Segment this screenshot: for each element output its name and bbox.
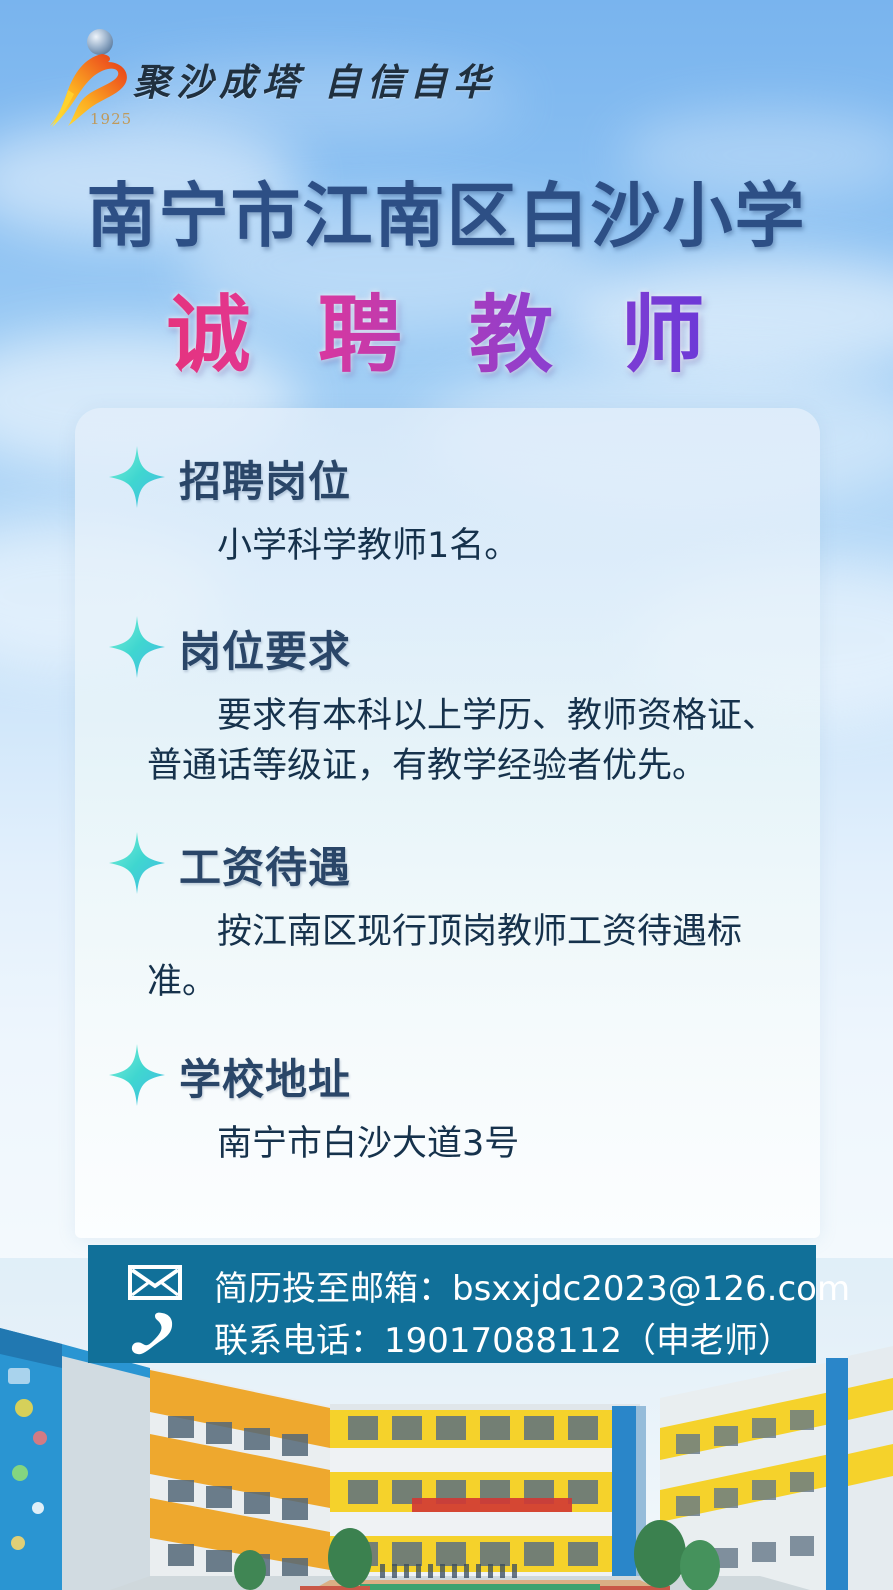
content-card: 招聘岗位 小学科学教师1名。 岗位要求 要求有本科以上学历、教师资格证、普通话等… [75,408,820,1238]
envelope-icon [128,1259,182,1305]
sparkle-icon [109,832,165,894]
section-title: 招聘岗位 [179,448,351,509]
svg-text:1925: 1925 [90,110,132,128]
section-body: 按江南区现行顶岗教师工资待遇标准。 [147,908,795,1007]
section-header: 岗位要求 [75,620,820,678]
section-requirements: 岗位要求 要求有本科以上学历、教师资格证、普通话等级证，有教学经验者优先。 [75,620,820,678]
section-body: 南宁市白沙大道3号 [147,1120,795,1170]
contact-phone-row[interactable]: 联系电话：19017088112（申老师） [88,1311,816,1363]
section-body: 小学科学教师1名。 [147,522,795,572]
recruitment-poster: 1925 聚沙成塔 自信自华 南宁市江南区白沙小学 诚 聘 教 师 诚 聘 教 … [0,0,893,1590]
section-title: 岗位要求 [179,618,351,679]
poster-header: 1925 聚沙成塔 自信自华 [0,0,893,140]
section-salary: 工资待遇 按江南区现行顶岗教师工资待遇标准。 [75,836,820,894]
school-name-title: 南宁市江南区白沙小学 [0,160,893,261]
section-recruit-position: 招聘岗位 小学科学教师1名。 [75,450,820,508]
sparkle-icon [109,1044,165,1106]
section-title: 工资待遇 [179,834,351,895]
school-logo-icon: 1925 [38,26,142,134]
school-slogan: 聚沙成塔 自信自华 [133,52,496,106]
contact-bar: 简历投至邮箱：bsxxjdc2023@126.com 联系电话：19017088… [88,1245,816,1363]
section-header: 工资待遇 [75,836,820,894]
sparkle-icon [109,616,165,678]
phone-icon [128,1311,182,1357]
sparkle-icon [109,446,165,508]
section-body: 要求有本科以上学历、教师资格证、普通话等级证，有教学经验者优先。 [147,692,795,791]
email-text: 简历投至邮箱：bsxxjdc2023@126.com [214,1261,850,1310]
recruit-headline: 诚 聘 教 师 [0,268,893,389]
section-header: 学校地址 [75,1048,820,1106]
contact-email-row[interactable]: 简历投至邮箱：bsxxjdc2023@126.com [88,1259,816,1311]
section-address: 学校地址 南宁市白沙大道3号 [75,1048,820,1106]
section-header: 招聘岗位 [75,450,820,508]
section-title: 学校地址 [179,1046,351,1107]
phone-text: 联系电话：19017088112（申老师） [214,1313,792,1362]
